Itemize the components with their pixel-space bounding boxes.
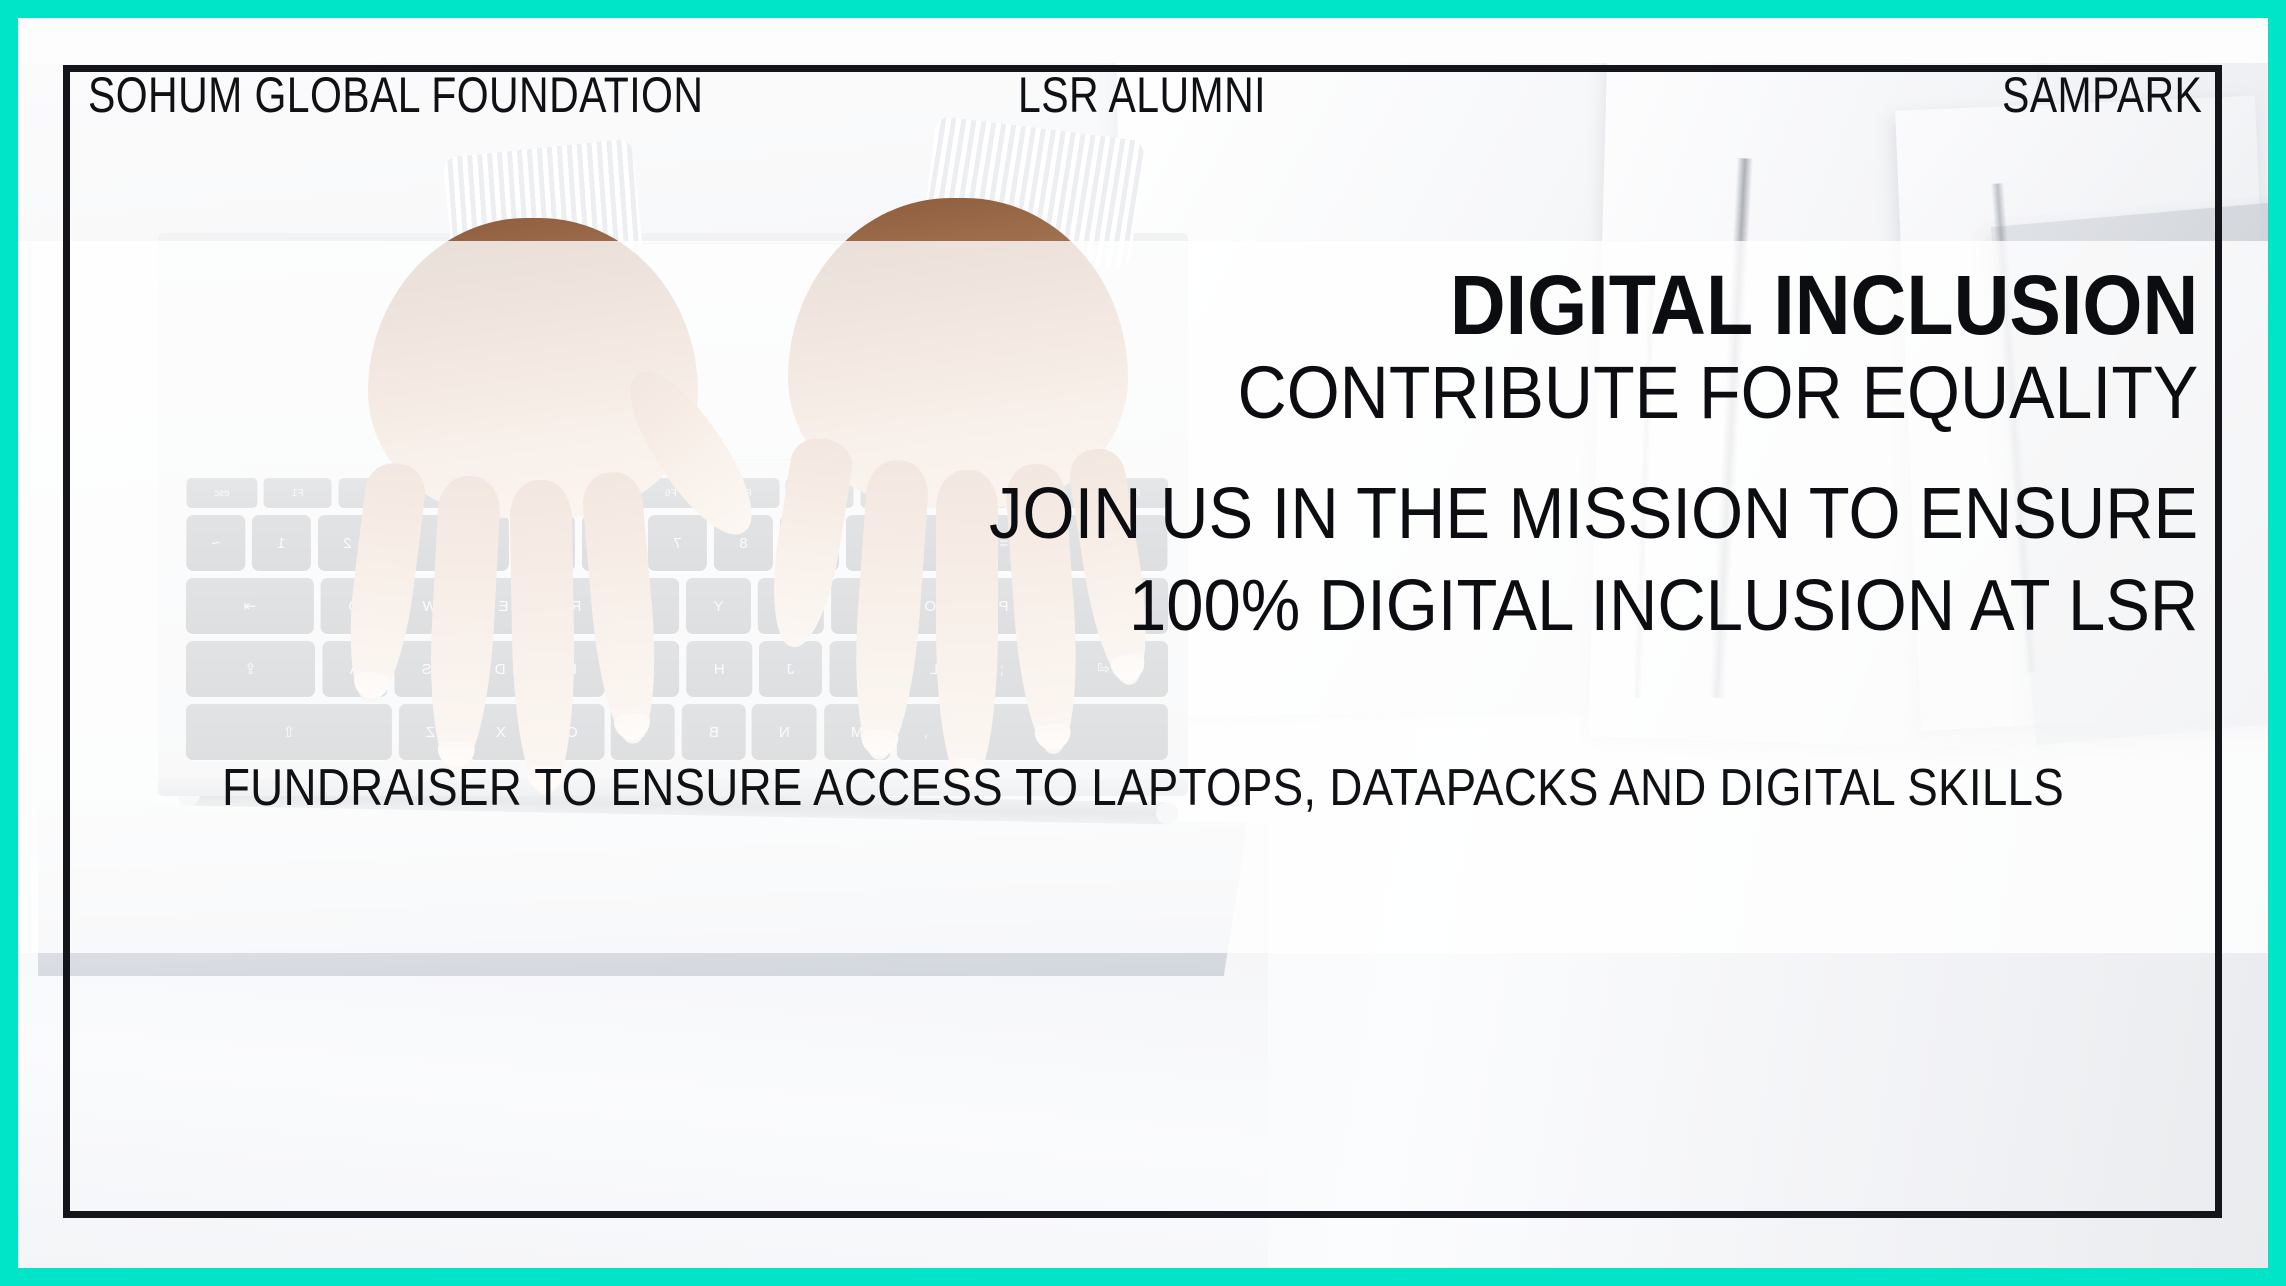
mission-line-2: 100% DIGITAL INCLUSION AT LSR: [989, 560, 2198, 652]
header-alumni-label: LSR ALUMNI: [1018, 66, 1266, 124]
text-layer: SOHUM GLOBAL FOUNDATION LSR ALUMNI SAMPA…: [18, 18, 2268, 1268]
footer-caption: FUNDRAISER TO ENSURE ACCESS TO LAPTOPS, …: [153, 758, 2133, 818]
headline-subtitle: CONTRIBUTE FOR EQUALITY: [1237, 349, 2198, 436]
header-organization-name: SOHUM GLOBAL FOUNDATION: [88, 66, 703, 124]
poster-white-plate: esc F1 F2 F3 F4 F5 F6 F7 F8 F9 F10 F11 F…: [18, 18, 2268, 1268]
header-sampark-label: SAMPARK: [2002, 66, 2202, 124]
headline-block: DIGITAL INCLUSION CONTRIBUTE FOR EQUALIT…: [1154, 263, 2198, 436]
mission-block: JOIN US IN THE MISSION TO ENSURE 100% DI…: [898, 468, 2198, 652]
mission-line-1: JOIN US IN THE MISSION TO ENSURE: [989, 468, 2198, 560]
headline-title: DIGITAL INCLUSION: [1237, 263, 2198, 347]
poster-root: esc F1 F2 F3 F4 F5 F6 F7 F8 F9 F10 F11 F…: [0, 0, 2286, 1286]
